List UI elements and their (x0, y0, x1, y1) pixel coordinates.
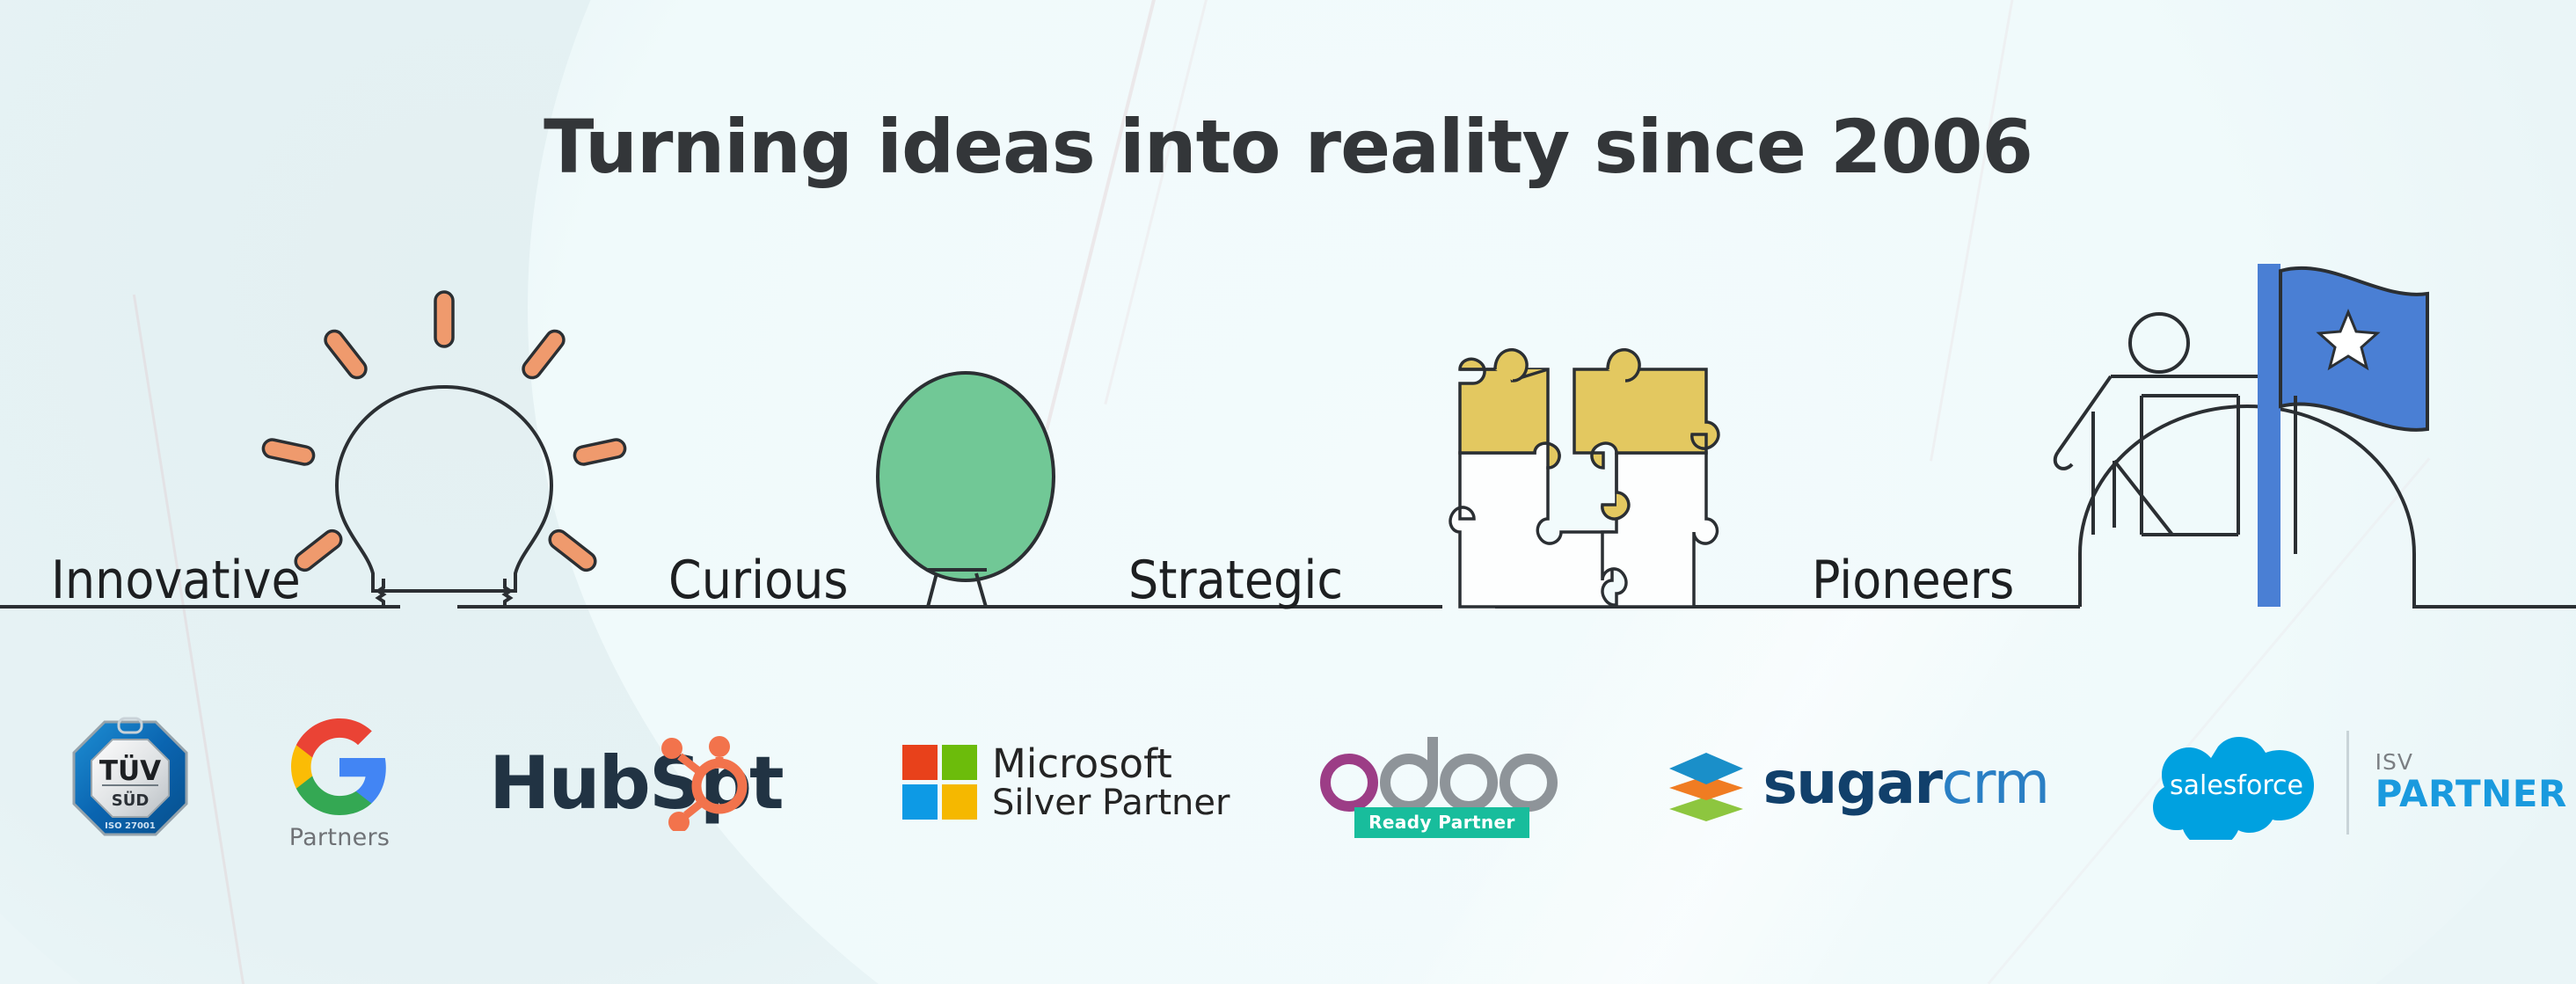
partner-logo-tuv-sud[interactable]: TÜV SÜD ISO 27001 (69, 717, 192, 849)
microsoft-square-red (902, 745, 938, 780)
odoo-ready-partner-badge: Ready Partner (1354, 807, 1529, 838)
partner-logo-microsoft-silver-partner[interactable]: Microsoft Silver Partner (902, 744, 1230, 821)
tuv-text: TÜV (99, 754, 161, 787)
partner-logo-hubspot[interactable]: HubSp t (489, 734, 806, 831)
partner-logo-strip: TÜV SÜD ISO 27001 Partners HubSp t (0, 699, 2576, 866)
salesforce-cloud-icon: salesforce (2153, 725, 2320, 840)
partner-logo-google-partners[interactable]: Partners (287, 714, 392, 851)
partner-logo-sugarcrm[interactable]: sugarcrm (1664, 740, 2048, 825)
microsoft-tier-label: Silver Partner (992, 785, 1230, 822)
sugarcrm-wordmark-bold: sugar (1762, 749, 1941, 817)
microsoft-square-blue (902, 784, 938, 820)
odoo-rings-icon (1314, 728, 1569, 813)
salesforce-wordmark: salesforce (2170, 770, 2303, 801)
tuv-sud-badge-icon: TÜV SÜD ISO 27001 (69, 717, 192, 849)
value-label-strategic: Strategic (1128, 550, 1343, 611)
sugarcrm-wordmark-light: crm (1942, 749, 2049, 817)
lightbulb-icon (262, 292, 627, 607)
microsoft-wordmark: Microsoft (992, 744, 1230, 785)
page-title: Turning ideas into reality since 2006 (0, 104, 2576, 190)
salesforce-isv-label: ISV (2375, 751, 2567, 775)
salesforce-divider (2346, 731, 2349, 835)
value-label-innovative: Innovative (51, 550, 301, 611)
magnifying-glass-icon (878, 373, 1054, 607)
value-label-pioneers: Pioneers (1812, 550, 2014, 611)
microsoft-square-green (942, 745, 977, 780)
hubspot-wordmark-left: HubSp (489, 740, 750, 826)
sud-text: SÜD (112, 791, 150, 810)
microsoft-square-yellow (942, 784, 977, 820)
microsoft-squares-icon (902, 745, 977, 820)
google-partners-sublabel: Partners (289, 824, 390, 851)
hubspot-wordmark-right: t (749, 740, 783, 826)
value-label-curious: Curious (668, 550, 848, 611)
puzzle-pieces-icon (1450, 350, 1719, 607)
sugarcrm-layers-icon (1664, 740, 1748, 825)
flag-on-hill-icon (2055, 264, 2427, 607)
partner-logo-salesforce-isv-partner[interactable]: salesforce ISV PARTNER (2153, 725, 2567, 840)
salesforce-partner-label: PARTNER (2375, 775, 2567, 814)
google-g-icon (287, 714, 392, 820)
partner-logo-odoo-ready-partner[interactable]: Ready Partner (1314, 728, 1569, 838)
hubspot-sprocket-icon: HubSp t (489, 734, 806, 831)
iso-text: ISO 27001 (105, 821, 156, 831)
